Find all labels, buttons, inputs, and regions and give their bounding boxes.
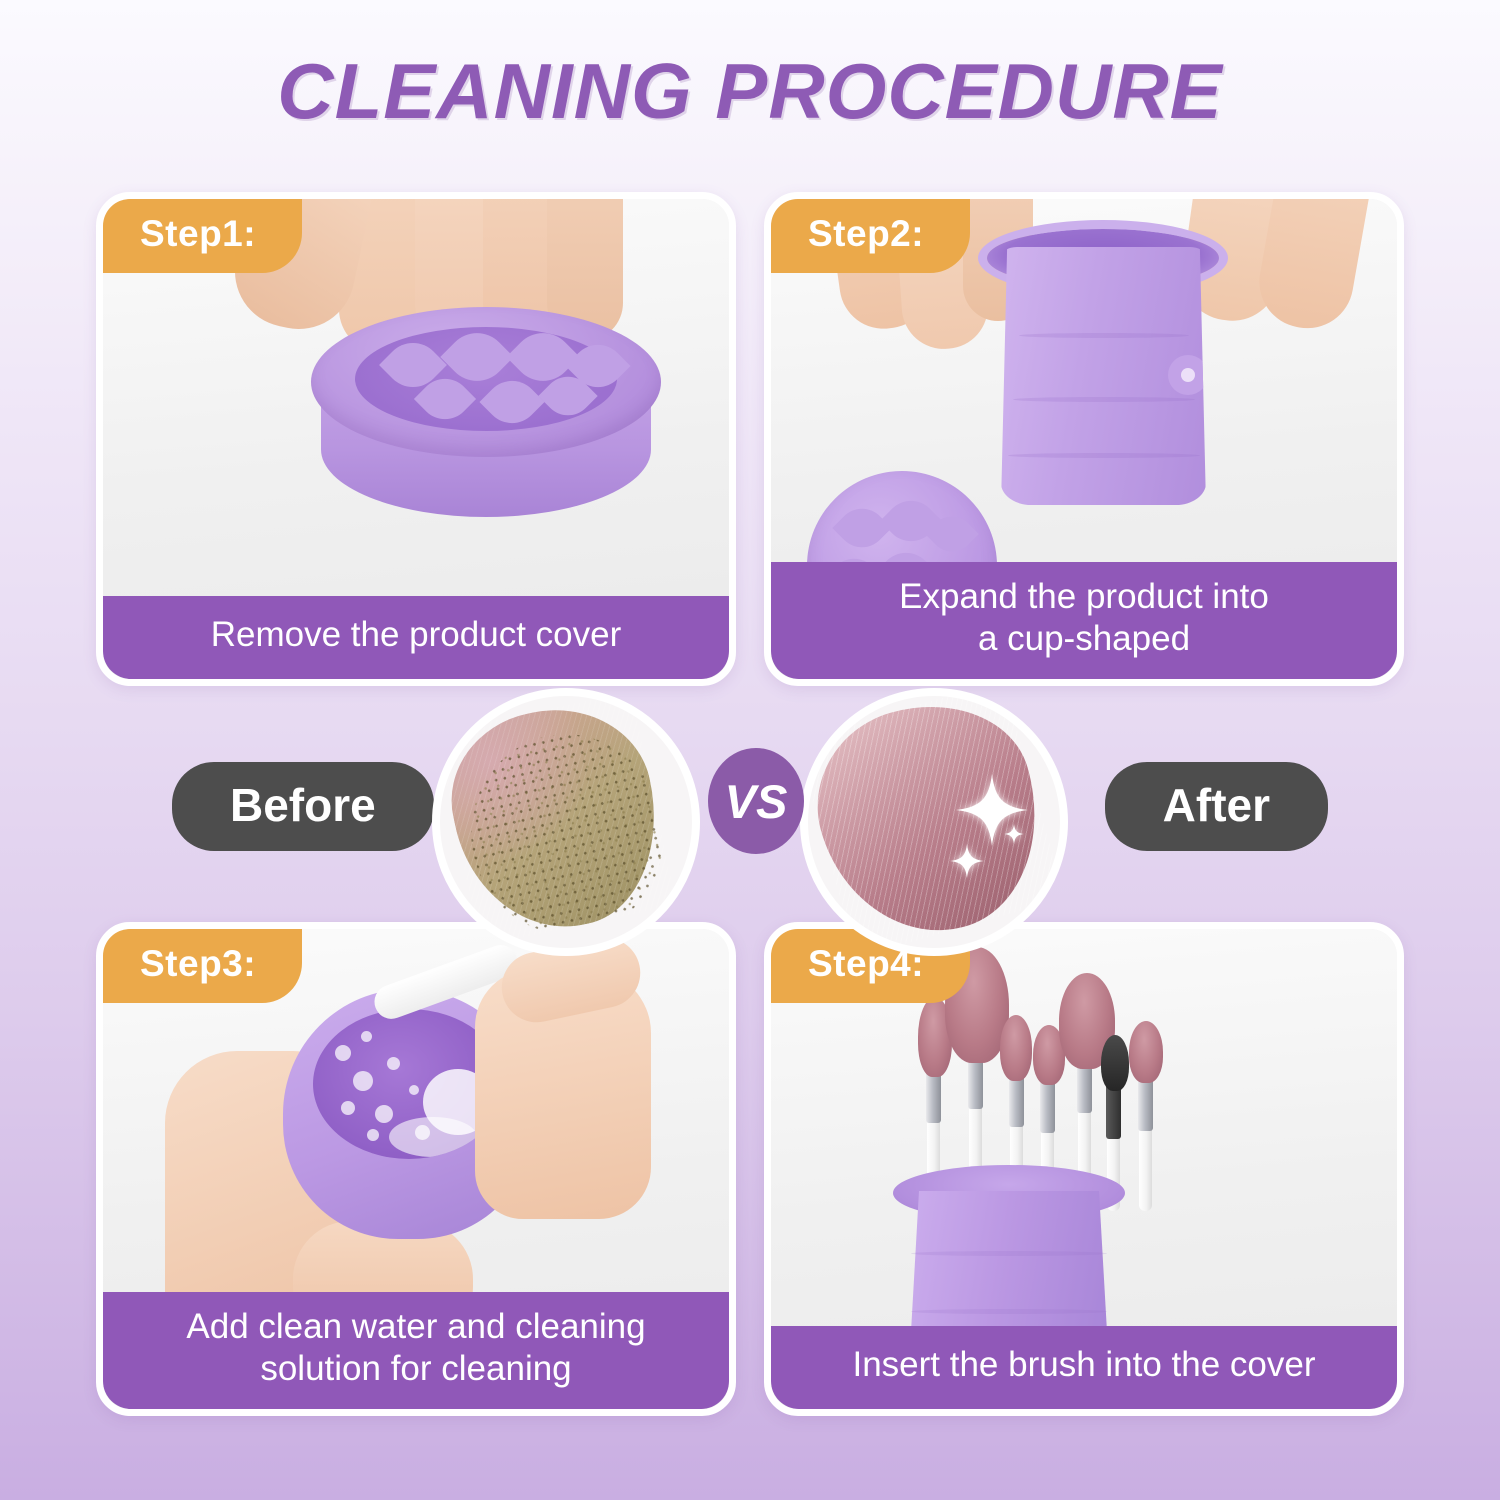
bubble [409,1085,419,1095]
brush-bristles [1101,1035,1129,1091]
step-3-caption: Add clean water and cleaning solution fo… [103,1292,729,1409]
step-1-photo: Step1: Remove the product cover [103,199,729,679]
step-card-1[interactable]: Step1: Remove the product cover [96,192,736,686]
step-2-caption-line-2: a cup-shaped [795,618,1373,661]
step-3-caption-line-2: solution for cleaning [127,1348,705,1391]
after-label: After [1105,762,1328,851]
lid-petal [832,498,891,557]
expanded-silicone-cup [1001,247,1206,505]
step-4-caption: Insert the brush into the cover [771,1326,1397,1409]
bubble [361,1031,372,1042]
bubble [375,1105,393,1123]
bubble [341,1101,355,1115]
holder-fold-ring [911,1309,1107,1314]
step-1-badge: Step1: [102,198,302,273]
cup-hang-tab [1168,355,1208,395]
step-2-caption-line-1: Expand the product into [795,576,1373,619]
foam-patch [389,1117,477,1157]
finger-icon [1252,192,1384,335]
bubble [367,1129,379,1141]
vs-badge: VS [708,748,804,854]
step-4-photo: Step4: Insert the brush into the cover [771,929,1397,1409]
brush-bristles [1129,1021,1163,1083]
bubble [335,1045,351,1061]
brush-bristles [1000,1015,1032,1081]
before-label: Before [172,762,434,851]
before-image [432,688,700,956]
before-after-comparison: Before After VS [0,660,1500,910]
cup-fold-ring [1019,333,1189,338]
step-3-photo: Step3: Add clean water and cleaning solu… [103,929,729,1409]
step-card-2[interactable]: Step2: Expand the product into a cup-sha… [764,192,1404,686]
cup-fold-ring [1013,397,1195,402]
lid-petal [880,490,942,552]
step-2-photo: Step2: Expand the product into a cup-sha… [771,199,1397,679]
sparkle-icon [1004,824,1024,844]
bubble [387,1057,400,1070]
makeup-brush [1137,1021,1155,1211]
cup-fold-ring [1008,453,1200,458]
dirty-brush-icon [436,692,677,947]
step-card-3[interactable]: Step3: Add clean water and cleaning solu… [96,922,736,1416]
step-3-badge: Step3: [102,928,302,1003]
sparkle-icon [950,844,984,878]
holder-fold-ring [911,1251,1107,1256]
step-2-badge: Step2: [770,198,970,273]
step-3-caption-line-1: Add clean water and cleaning [127,1306,705,1349]
bristle-texture [436,692,677,947]
step-card-4[interactable]: Step4: Insert the brush into the cover [764,922,1404,1416]
bubble [353,1071,373,1091]
after-image [800,688,1068,956]
